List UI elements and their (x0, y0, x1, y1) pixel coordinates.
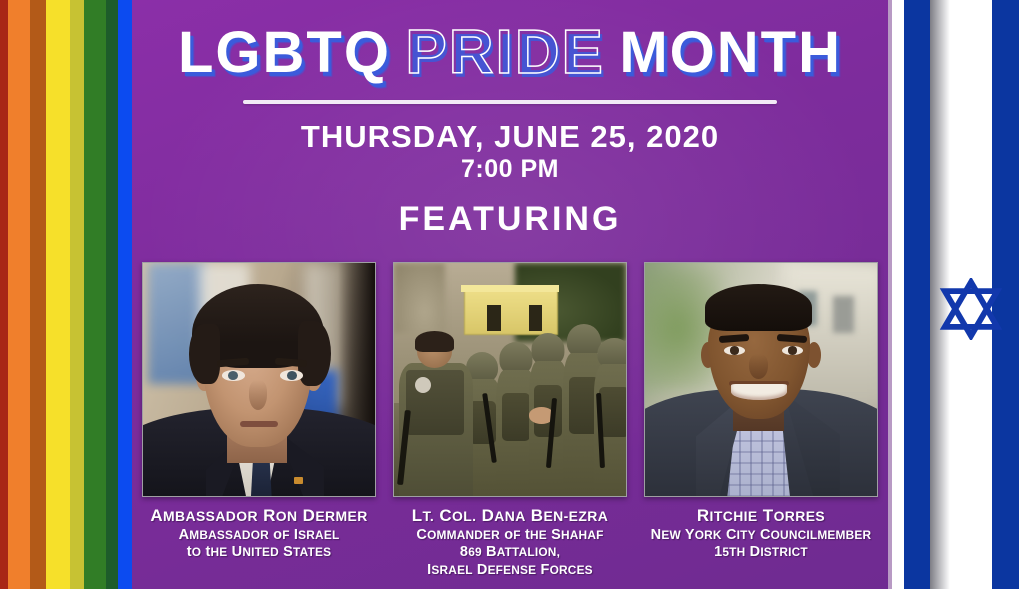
speaker-caption: AMBASSADOR RON DERMER AMBASSADOR oF ISRA… (142, 506, 376, 562)
title-word-month: MONTH (619, 24, 842, 82)
speaker-title-line: 869 BATTALION, (393, 544, 627, 562)
speaker-card-list: AMBASSADOR RON DERMER AMBASSADOR oF ISRA… (142, 262, 878, 580)
rainbow-stripe-orange (8, 0, 30, 589)
speaker-title-line: COMMANDER oF tHE SHAHAF (393, 527, 627, 545)
rainbow-flag-bar (0, 0, 132, 589)
title-divider (243, 100, 777, 104)
speaker-photo (393, 262, 627, 497)
featuring-label: FEATURING (132, 200, 888, 239)
flag-white-field (950, 0, 992, 589)
flag-white-margin (892, 0, 904, 589)
flag-blue-stripe-left (904, 0, 930, 589)
speaker-caption: LT. COL. DANA BEN-EZRA COMMANDER oF tHE … (393, 506, 627, 580)
rainbow-stripe-yellow (46, 0, 70, 589)
rainbow-stripe-blue (118, 0, 132, 589)
speaker-card: RITCHIE TORRES NEW YORK CITY COUNCILMEMB… (644, 262, 878, 580)
rainbow-stripe-dark-green (106, 0, 118, 589)
speaker-title-line: ISRAEL DEFENSE FORCES (393, 562, 627, 580)
speaker-name: RITCHIE TORRES (644, 506, 878, 527)
flyer-main-panel: LGBTQ PRIDE MONTH THURSDAY, JUNE 25, 202… (132, 0, 888, 589)
rainbow-stripe-brown (30, 0, 46, 589)
speaker-title-line: tO tHE UNITED STATES (142, 544, 376, 562)
event-date: THURSDAY, JUNE 25, 2020 (132, 119, 888, 155)
title-word-lgbtq: LGBTQ (178, 24, 391, 82)
flag-blue-stripe-right (992, 0, 1019, 589)
speaker-caption: RITCHIE TORRES NEW YORK CITY COUNCILMEMB… (644, 506, 878, 562)
rainbow-stripe-red (0, 0, 8, 589)
title-word-pride: PRIDE (405, 22, 604, 84)
rainbow-stripe-olive (70, 0, 84, 589)
speaker-photo (142, 262, 376, 497)
speaker-name: LT. COL. DANA BEN-EZRA (393, 506, 627, 527)
israel-flag-bar (888, 0, 1019, 589)
rainbow-stripe-green (84, 0, 106, 589)
speaker-title-line: NEW YORK CITY COUNCILMEMBER (644, 527, 878, 545)
event-time: 7:00 PM (132, 155, 888, 184)
speaker-card: LT. COL. DANA BEN-EZRA COMMANDER oF tHE … (393, 262, 627, 580)
speaker-card: AMBASSADOR RON DERMER AMBASSADOR oF ISRA… (142, 262, 376, 580)
page-title: LGBTQ PRIDE MONTH (132, 22, 888, 84)
flag-shadow-gradient (930, 0, 950, 589)
speaker-title-line: 15TH DISTRICT (644, 544, 878, 562)
speaker-name: AMBASSADOR RON DERMER (142, 506, 376, 527)
speaker-photo (644, 262, 878, 497)
pride-month-flyer: LGBTQ PRIDE MONTH THURSDAY, JUNE 25, 202… (0, 0, 1019, 589)
speaker-title-line: AMBASSADOR oF ISRAEL (142, 527, 376, 545)
